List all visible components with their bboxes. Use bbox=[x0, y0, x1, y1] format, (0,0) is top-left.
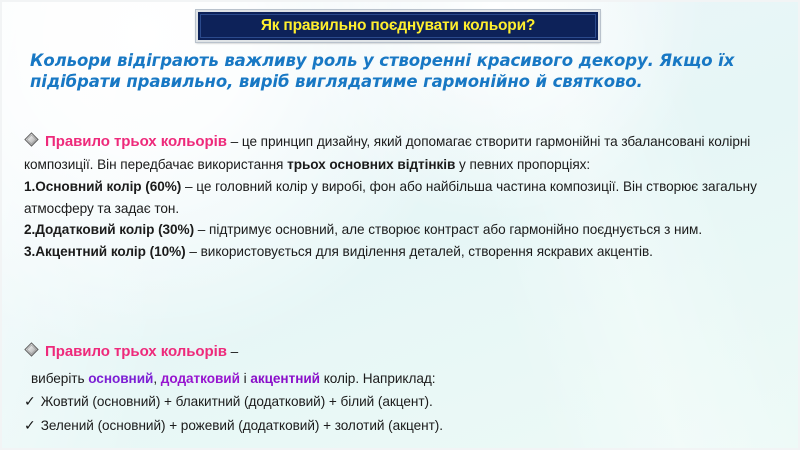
rule-heading-line: Правило трьох кольорів – це принцип диза… bbox=[24, 131, 776, 175]
example-prefix: виберіть bbox=[31, 371, 88, 386]
example-instruction-line: виберіть основний, додатковий і акцентни… bbox=[24, 367, 776, 390]
rule-intro-text-2: у певних пропорціях: bbox=[455, 157, 590, 172]
check-item-text: Жовтий (основний) + блакитний (додаткови… bbox=[41, 394, 433, 409]
rule-intro-bold: трьох основних відтінків bbox=[287, 157, 455, 172]
list-item-dash: – bbox=[181, 179, 196, 194]
list-item: 2.Додатковий колір (30%) – підтримує осн… bbox=[24, 219, 776, 241]
check-item-text: Зелений (основний) + рожевий (додатковий… bbox=[41, 418, 443, 433]
check-mark-icon: ✓ bbox=[24, 391, 36, 414]
check-mark-icon: ✓ bbox=[24, 415, 36, 438]
rule-heading-dash: – bbox=[227, 134, 242, 149]
slide-title-banner: Як правильно поєднувати кольори? bbox=[196, 10, 600, 42]
example-sep-2: і bbox=[240, 371, 250, 386]
example-sep-1: , bbox=[153, 371, 160, 386]
word-main-color: основний bbox=[88, 371, 153, 386]
example-heading-line: Правило трьох кольорів – bbox=[24, 340, 776, 364]
list-item-lead: 2.Додатковий колір (30%) bbox=[24, 222, 194, 237]
list-item-lead: 1.Основний колір (60%) bbox=[24, 179, 181, 194]
intro-paragraph: Кольори відіграють важливу роль у створе… bbox=[30, 50, 746, 92]
list-item: 1.Основний колір (60%) – це головний кол… bbox=[24, 176, 776, 219]
page-title: Як правильно поєднувати кольори? bbox=[261, 17, 535, 35]
slide-canvas: Як правильно поєднувати кольори? Кольори… bbox=[0, 0, 800, 450]
list-item-lead: 3.Акцентний колір (10%) bbox=[24, 244, 186, 259]
example-heading-dash: – bbox=[227, 344, 238, 359]
list-item: ✓Зелений (основний) + рожевий (додаткови… bbox=[24, 414, 776, 438]
list-item-text: підтримує основний, але створює контраст… bbox=[209, 222, 702, 237]
diamond-bullet-icon bbox=[24, 132, 39, 154]
diamond-bullet-icon bbox=[24, 341, 39, 364]
rule-of-three-colors-block: Правило трьох кольорів – це принцип диза… bbox=[24, 131, 776, 262]
list-item-text: використовується для виділення деталей, … bbox=[201, 244, 653, 259]
rule-heading-title: Правило трьох кольорів bbox=[45, 133, 227, 150]
word-secondary-color: додатковий bbox=[161, 371, 240, 386]
color-example-block: Правило трьох кольорів – виберіть основн… bbox=[24, 340, 776, 438]
list-item: 3.Акцентний колір (10%) – використовуєть… bbox=[24, 241, 776, 263]
example-suffix: колір. Наприклад: bbox=[320, 371, 436, 386]
example-heading-title: Правило трьох кольорів bbox=[45, 343, 227, 360]
list-item: ✓Жовтий (основний) + блакитний (додатков… bbox=[24, 390, 776, 414]
list-item-dash: – bbox=[186, 244, 201, 259]
list-item-dash: – bbox=[194, 222, 209, 237]
word-accent-color: акцентний bbox=[250, 371, 320, 386]
